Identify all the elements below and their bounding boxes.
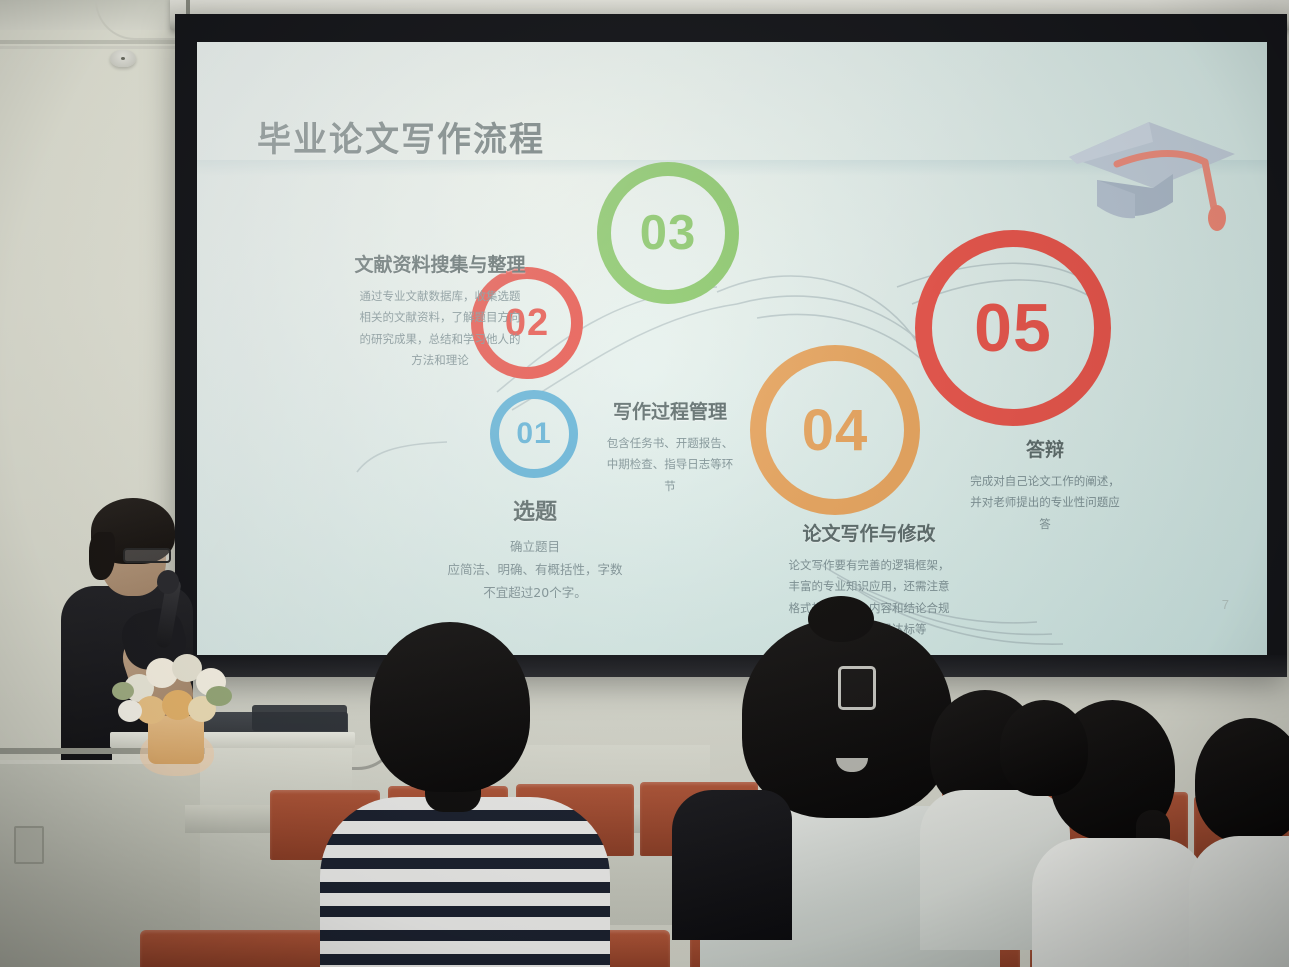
hair-clip-icon <box>838 666 876 710</box>
microphone-head <box>157 570 179 594</box>
graduation-cap-icon <box>1057 102 1247 232</box>
wall-rail-secondary <box>0 46 200 49</box>
step-body-02: 通过专业文献数据库，收集选题 相关的文献资料，了解题目方向 的研究成果，总结和学… <box>285 286 595 371</box>
step-block-03: 写作过程管理 包含任务书、开题报告、 中期检查、指导日志等环 节 <box>555 397 785 497</box>
step-ring-03[interactable]: 03 <box>597 162 739 304</box>
flower-petal <box>118 700 142 722</box>
flower-foliage <box>112 682 134 700</box>
student-hair <box>370 622 530 792</box>
student-torso <box>672 790 792 940</box>
slide-title: 毕业论文写作流程 <box>257 112 545 161</box>
student-torso <box>320 797 610 967</box>
student-far-right <box>1195 718 1289 967</box>
step-number-01: 01 <box>516 417 551 451</box>
glasses-icon <box>123 548 171 563</box>
step-number-04: 04 <box>802 397 869 464</box>
student-hair-bun <box>808 596 874 642</box>
flower-foliage <box>206 686 232 706</box>
step-block-01: 选题 确立题目 应简洁、明确、有概括性，字数 不宜超过20个字。 <box>375 494 695 604</box>
student-center-back <box>1000 700 1090 820</box>
lecture-hall-photo: 毕业论文写作流程 01 02 03 <box>0 0 1289 967</box>
step-ring-05[interactable]: 05 <box>915 230 1111 426</box>
student-shirt <box>1189 836 1289 967</box>
flower-bouquet <box>118 638 236 756</box>
wall-rail <box>0 40 200 44</box>
presenter-sideburn <box>89 532 115 580</box>
projector-screen-frame: 毕业论文写作流程 01 02 03 <box>175 14 1287 674</box>
step-heading-02: 文献资料搜集与整理 <box>285 250 595 277</box>
projected-slide: 毕业论文写作流程 01 02 03 <box>197 42 1267 662</box>
step-block-02: 文献资料搜集与整理 通过专业文献数据库，收集选题 相关的文献资料，了解题目方向 … <box>285 250 595 371</box>
student-shirt <box>1032 838 1207 967</box>
student-left-back <box>672 790 782 930</box>
step-heading-01: 选题 <box>375 494 695 526</box>
student-hair <box>1000 700 1088 796</box>
student-striped-shirt <box>330 622 630 967</box>
step-body-03: 包含任务书、开题报告、 中期检查、指导日志等环 节 <box>555 433 785 497</box>
step-number-03: 03 <box>640 205 697 261</box>
student-hair <box>742 618 952 818</box>
smoke-detector-icon <box>110 50 136 67</box>
step-block-05: 答辩 完成对自己论文工作的阐述， 并对老师提出的专业性问题应 答 <box>915 435 1175 535</box>
student-hair <box>1195 718 1289 843</box>
slide-page-number: 7 <box>1222 597 1229 612</box>
step-heading-05: 答辩 <box>915 435 1175 462</box>
step-heading-03: 写作过程管理 <box>555 397 785 424</box>
bouquet-wrap <box>148 716 204 764</box>
step-body-05: 完成对自己论文工作的阐述， 并对老师提出的专业性问题应 答 <box>915 471 1175 535</box>
step-body-01: 确立题目 应简洁、明确、有概括性，字数 不宜超过20个字。 <box>375 535 695 604</box>
step-number-05: 05 <box>974 289 1052 367</box>
